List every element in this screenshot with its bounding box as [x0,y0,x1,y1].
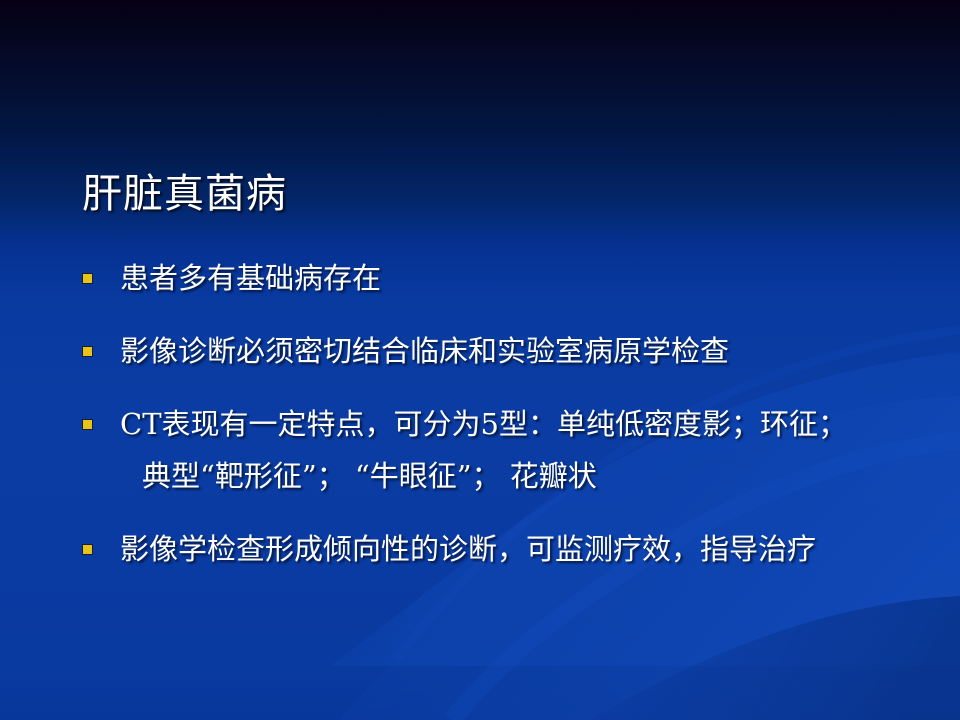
bullet-list: 患者多有基础病存在 影像诊断必须密切结合临床和实验室病原学检查 CT表现有一定特… [80,252,920,596]
list-item: 影像诊断必须密切结合临床和实验室病原学检查 [80,325,920,377]
square-bullet-icon [82,273,93,284]
list-item-text: CT表现有一定特点，可分为5型：单纯低密度影；环征； 典型“靶形征”； “牛眼征… [120,398,920,502]
list-item: 影像学检查形成倾向性的诊断，可监测疗效，指导治疗 [80,523,920,575]
list-item: 患者多有基础病存在 [80,252,920,304]
square-bullet-icon [82,346,93,357]
square-bullet-icon [82,544,93,555]
presentation-slide: 肝脏真菌病 患者多有基础病存在 影像诊断必须密切结合临床和实验室病原学检查 CT… [0,0,960,720]
list-item-text: 患者多有基础病存在 [120,252,920,304]
list-item-line-continued: 典型“靶形征”； “牛眼征”； 花瓣状 [120,450,920,502]
page-title: 肝脏真菌病 [82,171,287,217]
list-item-line: CT表现有一定特点，可分为5型：单纯低密度影；环征； [120,407,847,441]
list-item-line: 影像学检查形成倾向性的诊断，可监测疗效，指导治疗 [120,532,816,566]
square-bullet-icon [82,419,93,430]
list-item: CT表现有一定特点，可分为5型：单纯低密度影；环征； 典型“靶形征”； “牛眼征… [80,398,920,502]
list-item-line: 影像诊断必须密切结合临床和实验室病原学检查 [120,334,729,368]
list-item-text: 影像诊断必须密切结合临床和实验室病原学检查 [120,325,920,377]
list-item-line: 患者多有基础病存在 [120,261,381,295]
list-item-text: 影像学检查形成倾向性的诊断，可监测疗效，指导治疗 [120,523,920,575]
slide-content: 肝脏真菌病 患者多有基础病存在 影像诊断必须密切结合临床和实验室病原学检查 CT… [0,0,960,720]
